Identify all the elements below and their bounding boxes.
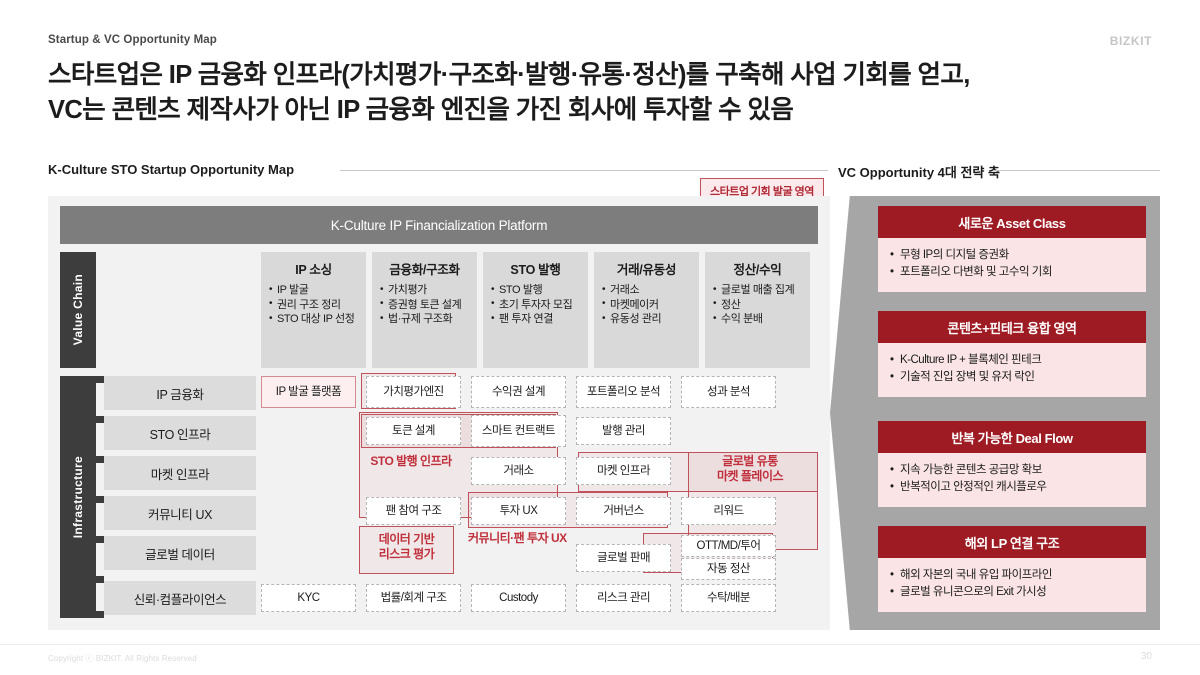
vc-strategy-body: 무형 IP의 디지털 증권화 포트폴리오 다변화 및 고수익 기회 xyxy=(878,238,1146,292)
annotation-label-sto-issuance-infra: STO 발행 인프라 xyxy=(361,454,461,469)
vc-strategy-title: 콘텐츠+핀테크 융합 영역 xyxy=(878,311,1146,343)
infra-cell-exchange[interactable]: 거래소 xyxy=(471,457,566,485)
axis-notch xyxy=(96,576,104,583)
value-chain-card-ip-sourcing: IP 소싱 IP 발굴 권리 구조 정리 STO 대상 IP 선정 xyxy=(261,252,366,368)
infra-cell-token-design[interactable]: 토큰 설계 xyxy=(366,417,461,445)
vc-card-list: IP 발굴 권리 구조 정리 STO 대상 IP 선정 xyxy=(269,283,358,327)
value-chain-card-sto-issuance: STO 발행 STO 발행 초기 투자자 모집 팬 투자 연결 xyxy=(483,252,588,368)
vc-card-list: 가치평가 증권형 토큰 설계 법·규제 구조화 xyxy=(380,283,469,327)
vc-strategy-title: 반복 가능한 Deal Flow xyxy=(878,421,1146,453)
vc-card-item: 거래소 xyxy=(602,283,691,298)
vc-strategy-body: 해외 자본의 국내 유입 파이프라인 글로벌 유니콘으로의 Exit 가시성 xyxy=(878,558,1146,612)
value-chain-axis-text: Value Chain xyxy=(71,274,85,345)
infra-cell-valuation-engine[interactable]: 가치평가엔진 xyxy=(366,376,461,408)
infra-cell-performance-analysis[interactable]: 성과 분석 xyxy=(681,376,776,408)
infra-cell-revenue-right-design[interactable]: 수익권 설계 xyxy=(471,376,566,408)
vc-card-title: 거래/유동성 xyxy=(602,259,691,278)
vc-card-title: IP 소싱 xyxy=(269,259,358,278)
vc-card-item: IP 발굴 xyxy=(269,283,358,298)
vc-card-list: STO 발행 초기 투자자 모집 팬 투자 연결 xyxy=(491,283,580,327)
infra-cell-trust-distribution[interactable]: 수탁/배분 xyxy=(681,584,776,612)
vc-strategy-item: 반복적이고 안정적인 캐시플로우 xyxy=(890,479,1134,496)
annotation-label-line-1: 데이터 기반 xyxy=(379,532,435,546)
infrastructure-axis-text: Infrastructure xyxy=(71,456,85,538)
infra-cell-legal-accounting-structure[interactable]: 법률/회계 구조 xyxy=(366,584,461,612)
vc-strategy-title: 새로운 Asset Class xyxy=(878,206,1146,238)
brand-logo: BIZKIT xyxy=(1110,34,1152,48)
infra-cell-ott-md-tour[interactable]: OTT/MD/투어 xyxy=(681,535,776,557)
vc-card-item: 초기 투자자 모집 xyxy=(491,298,580,313)
infra-cell-issuance-management[interactable]: 발행 관리 xyxy=(576,417,671,445)
infra-row-label-market-infra: 마켓 인프라 xyxy=(104,456,256,490)
infra-row-label-community-ux: 커뮤니티 UX xyxy=(104,496,256,530)
vc-card-item: 팬 투자 연결 xyxy=(491,312,580,327)
vc-strategy-item: 글로벌 유니콘으로의 Exit 가시성 xyxy=(890,584,1134,601)
axis-notch xyxy=(96,456,104,463)
annotation-label-line-2: 리스크 평가 xyxy=(379,547,435,561)
right-section-title: VC Opportunity 4대 전략 축 xyxy=(838,162,1000,181)
annotation-label-line-2: 마켓 플레이스 xyxy=(717,469,783,483)
value-chain-card-financialization: 금융화/구조화 가치평가 증권형 토큰 설계 법·규제 구조화 xyxy=(372,252,477,368)
infra-row-label-ip-financialization: IP 금융화 xyxy=(104,376,256,410)
annotation-label-data-risk-assessment: 데이터 기반 리스크 평가 xyxy=(359,532,454,561)
infra-row-label-trust-compliance: 신뢰·컴플라이언스 xyxy=(104,581,256,615)
vc-card-item: 마켓메이커 xyxy=(602,298,691,313)
vc-card-title: 정산/수익 xyxy=(713,259,802,278)
infra-cell-global-sales[interactable]: 글로벌 판매 xyxy=(576,544,671,572)
vc-strategy-item: 기술적 진입 장벽 및 유저 락인 xyxy=(890,369,1134,386)
axis-notch xyxy=(96,376,104,383)
infra-row-label-sto-infra: STO 인프라 xyxy=(104,416,256,450)
vc-card-item: 권리 구조 정리 xyxy=(269,298,358,313)
annotation-label-global-distribution: 글로벌 유통 마켓 플레이스 xyxy=(688,454,812,483)
axis-notch xyxy=(96,536,104,543)
left-section-rule xyxy=(340,170,828,171)
annotation-label-line-1: 글로벌 유통 xyxy=(722,454,778,468)
platform-bar: K-Culture IP Financialization Platform xyxy=(60,206,818,244)
vc-strategy-item: 포트폴리오 다변화 및 고수익 기회 xyxy=(890,264,1134,281)
vc-card-title: STO 발행 xyxy=(491,259,580,278)
left-section-title: K-Culture STO Startup Opportunity Map xyxy=(48,162,294,177)
vc-card-list: 거래소 마켓메이커 유동성 관리 xyxy=(602,283,691,327)
vc-card-item: 유동성 관리 xyxy=(602,312,691,327)
axis-notch xyxy=(96,496,104,503)
infra-cell-auto-settlement[interactable]: 자동 정산 xyxy=(681,558,776,580)
opportunity-map-board: K-Culture IP Financialization Platform V… xyxy=(48,196,830,630)
vc-strategy-box-overseas-lp: 해외 LP 연결 구조 해외 자본의 국내 유입 파이프라인 글로벌 유니콘으로… xyxy=(878,526,1146,612)
vc-card-item: STO 대상 IP 선정 xyxy=(269,312,358,327)
vc-strategy-title: 해외 LP 연결 구조 xyxy=(878,526,1146,558)
infra-cell-kyc[interactable]: KYC xyxy=(261,584,356,612)
value-chain-card-settlement-revenue: 정산/수익 글로벌 매출 집계 정산 수익 분배 xyxy=(705,252,810,368)
infra-cell-risk-management[interactable]: 리스크 관리 xyxy=(576,584,671,612)
infra-cell-ip-discovery-platform[interactable]: IP 발굴 플랫폼 xyxy=(261,376,356,408)
vc-card-item: 정산 xyxy=(713,298,802,313)
vc-strategy-body: 지속 가능한 콘텐츠 공급망 확보 반복적이고 안정적인 캐시플로우 xyxy=(878,453,1146,507)
infra-cell-investment-ux[interactable]: 투자 UX xyxy=(471,497,566,525)
page-title: 스타트업은 IP 금융화 인프라(가치평가·구조화·발행·유통·정산)를 구축해… xyxy=(48,58,1158,128)
vc-strategy-item: 해외 자본의 국내 유입 파이프라인 xyxy=(890,567,1134,584)
infra-cell-fan-participation-structure[interactable]: 팬 참여 구조 xyxy=(366,497,461,525)
axis-notch xyxy=(96,416,104,423)
right-section-rule xyxy=(995,170,1160,171)
slide: Startup & VC Opportunity Map BIZKIT 스타트업… xyxy=(0,0,1200,675)
infra-cell-governance[interactable]: 거버넌스 xyxy=(576,497,671,525)
value-chain-card-trading-liquidity: 거래/유동성 거래소 마켓메이커 유동성 관리 xyxy=(594,252,699,368)
vc-card-item: 증권형 토큰 설계 xyxy=(380,298,469,313)
infra-cell-reward[interactable]: 리워드 xyxy=(681,497,776,525)
vc-strategy-item: K-Culture IP + 블록체인 핀테크 xyxy=(890,352,1134,369)
infra-cell-custody[interactable]: Custody xyxy=(471,584,566,612)
vc-strategy-box-deal-flow: 반복 가능한 Deal Flow 지속 가능한 콘텐츠 공급망 확보 반복적이고… xyxy=(878,421,1146,507)
vc-card-item: STO 발행 xyxy=(491,283,580,298)
infra-row-label-global-data: 글로벌 데이터 xyxy=(104,536,256,570)
vc-card-item: 법·규제 구조화 xyxy=(380,312,469,327)
footer-divider xyxy=(0,644,1200,645)
page-number: 30 xyxy=(1141,651,1152,662)
infra-cell-portfolio-analysis[interactable]: 포트폴리오 분석 xyxy=(576,376,671,408)
vc-strategy-box-content-fintech: 콘텐츠+핀테크 융합 영역 K-Culture IP + 블록체인 핀테크 기술… xyxy=(878,311,1146,397)
vc-card-item: 가치평가 xyxy=(380,283,469,298)
infra-cell-market-infra[interactable]: 마켓 인프라 xyxy=(576,457,671,485)
vc-card-title: 금융화/구조화 xyxy=(380,259,469,278)
vc-strategy-item: 무형 IP의 디지털 증권화 xyxy=(890,247,1134,264)
vc-strategy-item: 지속 가능한 콘텐츠 공급망 확보 xyxy=(890,462,1134,479)
value-chain-axis-label: Value Chain xyxy=(60,252,96,368)
eyebrow-label: Startup & VC Opportunity Map xyxy=(48,34,217,46)
vc-strategy-box-asset-class: 새로운 Asset Class 무형 IP의 디지털 증권화 포트폴리오 다변화… xyxy=(878,206,1146,292)
headline-line-1: 스타트업은 IP 금융화 인프라(가치평가·구조화·발행·유통·정산)를 구축해… xyxy=(48,58,1158,93)
vc-card-item: 수익 분배 xyxy=(713,312,802,327)
vc-card-list: 글로벌 매출 집계 정산 수익 분배 xyxy=(713,283,802,327)
annotation-label-community-fan-investment-ux: 커뮤니티·팬 투자 UX xyxy=(468,531,658,546)
infrastructure-axis-label: Infrastructure xyxy=(60,376,96,618)
copyright-text: Copyright ⓒ BIZKIT. All Rights Reserved xyxy=(48,653,197,664)
axis-notch xyxy=(96,611,104,618)
vc-card-item: 글로벌 매출 집계 xyxy=(713,283,802,298)
vc-strategy-body: K-Culture IP + 블록체인 핀테크 기술적 진입 장벽 및 유저 락… xyxy=(878,343,1146,397)
headline-line-2: VC는 콘텐츠 제작사가 아닌 IP 금융화 엔진을 가진 회사에 투자할 수 … xyxy=(48,93,1158,128)
infra-cell-smart-contract[interactable]: 스마트 컨트랙트 xyxy=(471,415,566,447)
